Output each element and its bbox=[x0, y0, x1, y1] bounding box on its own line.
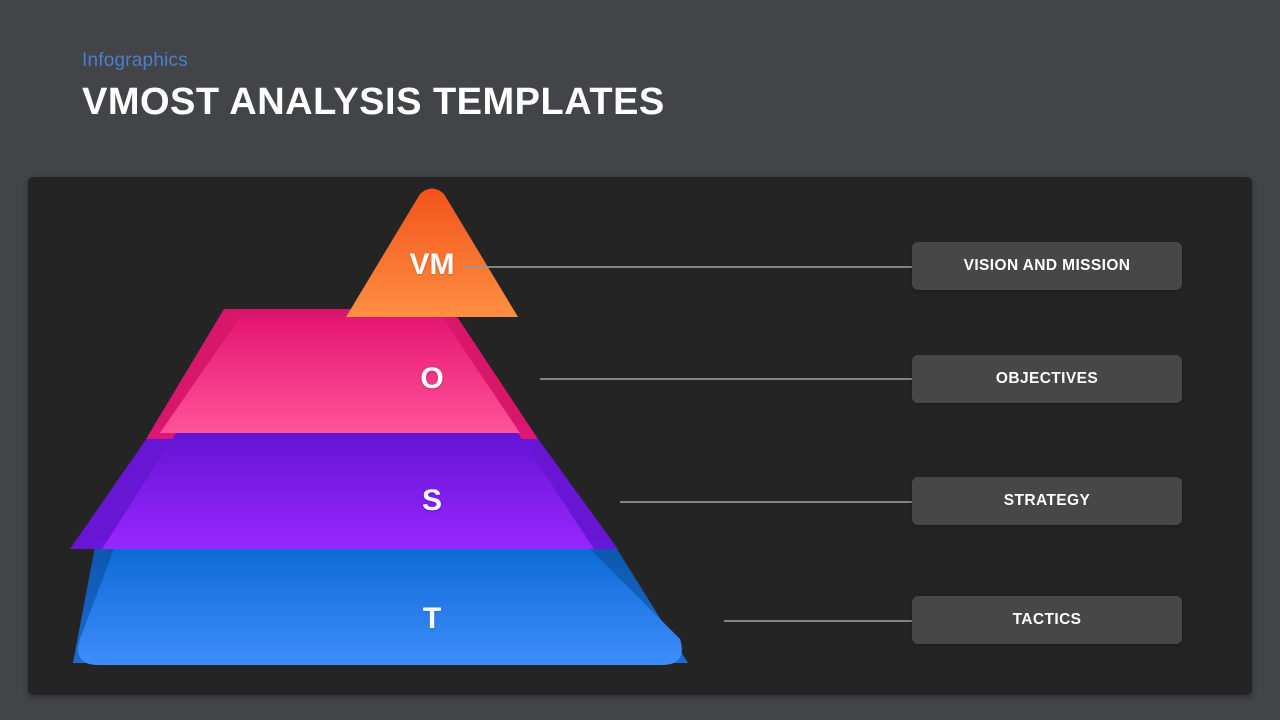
label-text-strategy: STRATEGY bbox=[1004, 492, 1090, 510]
connector-line-tactics bbox=[724, 620, 916, 622]
infographic-card: VM O S T VISION AND MISSION OBJECTIVES S… bbox=[28, 177, 1252, 695]
tier-tactics bbox=[78, 549, 682, 665]
label-box-tactics[interactable]: TACTICS bbox=[912, 596, 1182, 644]
label-text-objectives: OBJECTIVES bbox=[996, 370, 1098, 388]
slide-header: Infographics VMOST ANALYSIS TEMPLATES bbox=[82, 50, 665, 124]
eyebrow-label: Infographics bbox=[82, 50, 665, 73]
slide-canvas: Infographics VMOST ANALYSIS TEMPLATES bbox=[0, 0, 1280, 720]
label-box-objectives[interactable]: OBJECTIVES bbox=[912, 355, 1182, 403]
tier-vision-mission bbox=[346, 189, 518, 318]
label-box-vision-mission[interactable]: VISION AND MISSION bbox=[912, 242, 1182, 290]
connector-line-vision-mission bbox=[465, 266, 915, 268]
label-text-tactics: TACTICS bbox=[1013, 611, 1082, 629]
tier-strategy bbox=[102, 433, 594, 549]
vmost-pyramid: VM O S T bbox=[28, 177, 788, 695]
pyramid-svg bbox=[28, 177, 788, 695]
connector-line-strategy bbox=[620, 501, 915, 503]
connector-line-objectives bbox=[540, 378, 915, 380]
page-title: VMOST ANALYSIS TEMPLATES bbox=[82, 81, 665, 125]
label-box-strategy[interactable]: STRATEGY bbox=[912, 477, 1182, 525]
label-text-vision-mission: VISION AND MISSION bbox=[964, 257, 1131, 275]
